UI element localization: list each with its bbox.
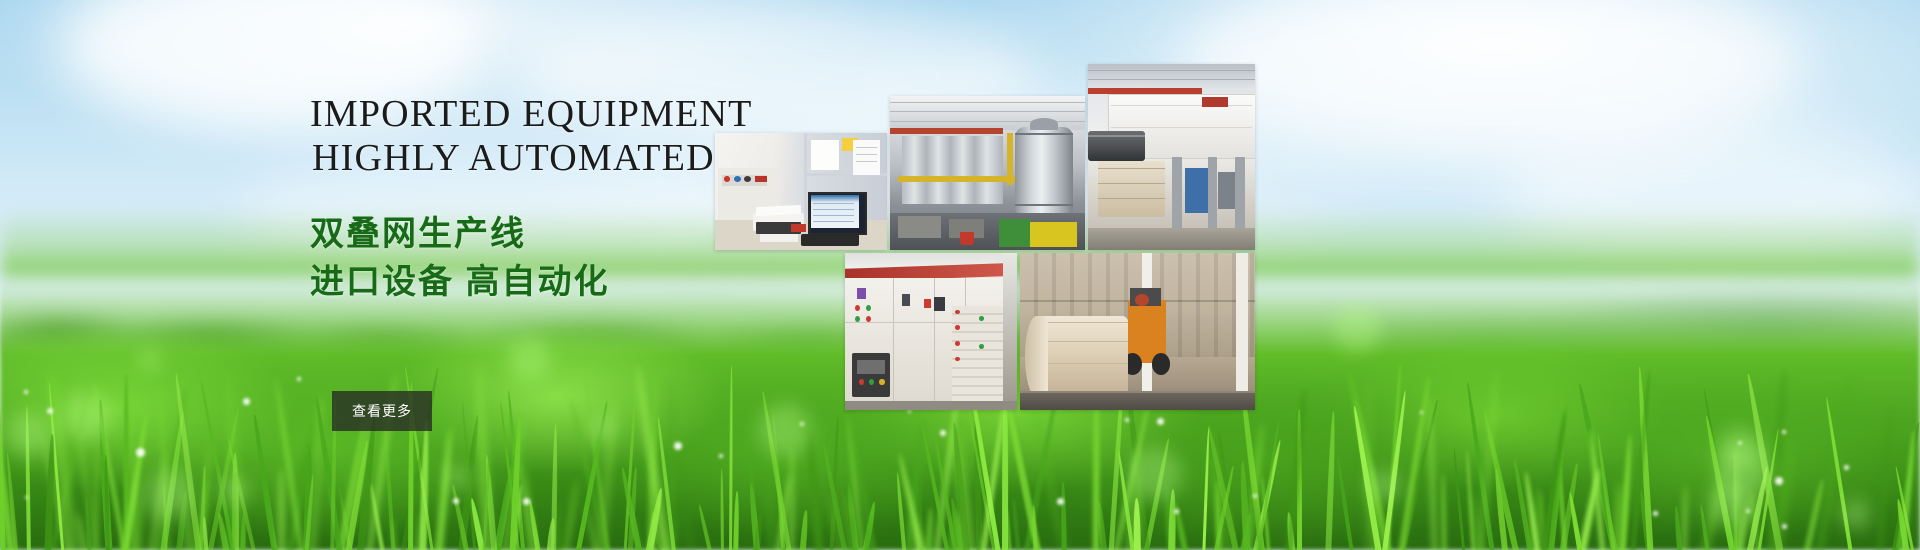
photo-switchgear[interactable] <box>845 253 1017 410</box>
hero-headline: IMPORTED EQUIPMENT HIGHLY AUTOMATED <box>310 92 740 180</box>
photo-pulping-line[interactable] <box>890 96 1085 250</box>
subheadline-line-2: 进口设备 高自动化 <box>310 258 740 306</box>
headline-line-2: HIGHLY AUTOMATED <box>310 136 740 180</box>
hero-copy: IMPORTED EQUIPMENT HIGHLY AUTOMATED 双叠网生… <box>310 92 740 306</box>
view-more-button[interactable]: 查看更多 <box>332 391 432 431</box>
photo-paper-machine[interactable] <box>1088 64 1255 250</box>
photo-control-room[interactable] <box>715 133 887 250</box>
subheadline-line-1: 双叠网生产线 <box>310 210 740 258</box>
headline-line-1: IMPORTED EQUIPMENT <box>310 92 740 136</box>
photo-warehouse[interactable] <box>1020 253 1255 410</box>
hero-banner: IMPORTED EQUIPMENT HIGHLY AUTOMATED 双叠网生… <box>0 0 1920 550</box>
hero-subheadline: 双叠网生产线 进口设备 高自动化 <box>310 210 740 306</box>
